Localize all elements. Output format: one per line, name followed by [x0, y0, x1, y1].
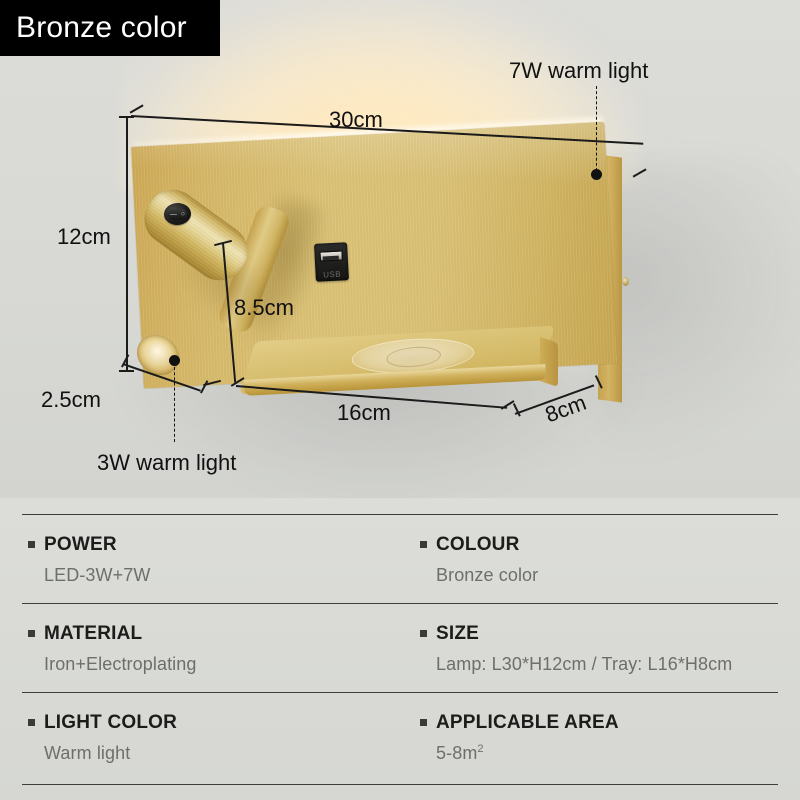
spec-cell-power: POWER LED-3W+7W: [0, 534, 400, 586]
dimension-tick-12cm-bottom: [119, 370, 134, 372]
callout-leader-7w: [596, 86, 597, 171]
divider-bottom: [22, 784, 778, 785]
spec-key: COLOUR: [420, 534, 800, 556]
divider-2: [22, 692, 778, 693]
dimension-tick-12cm-top: [119, 116, 134, 118]
tray-right-face: [540, 337, 558, 387]
bullet-icon: [28, 630, 35, 637]
spec-cell-colour: COLOUR Bronze color: [400, 534, 800, 586]
spec-value: 5-8m2: [436, 743, 800, 764]
spec-key-label: LIGHT COLOR: [44, 712, 177, 734]
spec-row: LIGHT COLOR Warm light APPLICABLE AREA 5…: [0, 712, 800, 764]
spec-key-label: POWER: [44, 534, 117, 556]
spec-row: POWER LED-3W+7W COLOUR Bronze color: [0, 534, 800, 586]
spec-key-label: COLOUR: [436, 534, 520, 556]
dimension-8.5cm: 8.5cm: [234, 297, 294, 319]
dimension-12cm: 12cm: [57, 226, 111, 248]
bullet-icon: [28, 541, 35, 548]
spec-key: LIGHT COLOR: [28, 712, 400, 734]
dimension-2.5cm: 2.5cm: [41, 389, 101, 411]
spec-key: MATERIAL: [28, 623, 400, 645]
spec-key: APPLICABLE AREA: [420, 712, 800, 734]
spec-value: Lamp: L30*H12cm / Tray: L16*H8cm: [436, 654, 800, 675]
spec-key-label: MATERIAL: [44, 623, 142, 645]
color-badge-label: Bronze color: [16, 11, 187, 45]
spec-key-label: SIZE: [436, 623, 479, 645]
callout-leader-3w: [174, 362, 175, 442]
spec-value: Warm light: [44, 743, 400, 764]
spec-value: LED-3W+7W: [44, 565, 400, 586]
bullet-icon: [28, 719, 35, 726]
color-badge: Bronze color: [0, 0, 220, 56]
dimension-16cm: 16cm: [337, 402, 391, 424]
spec-value-main: 5-8m: [436, 743, 477, 763]
switch-on-mark: ○: [181, 211, 186, 218]
product-spec-image: — ○ USB 30cm 12cm 8.5cm 2.5cm: [0, 0, 800, 800]
dimension-30cm: 30cm: [329, 109, 383, 131]
mounting-screw-icon: [622, 277, 629, 286]
usb-label: USB: [315, 269, 348, 280]
spec-value: Iron+Electroplating: [44, 654, 400, 675]
switch-off-mark: —: [170, 211, 177, 218]
spec-table: POWER LED-3W+7W COLOUR Bronze color MATE…: [0, 498, 800, 800]
spec-value-superscript: 2: [477, 743, 483, 755]
power-switch-rocker[interactable]: — ○: [168, 209, 188, 221]
callout-7w-warm-light: 7W warm light: [509, 60, 648, 82]
spec-cell-size: SIZE Lamp: L30*H12cm / Tray: L16*H8cm: [400, 623, 800, 675]
spec-value: Bronze color: [436, 565, 800, 586]
usb-port[interactable]: USB: [314, 242, 349, 282]
divider-1: [22, 603, 778, 604]
dimension-line-12cm: [126, 116, 128, 371]
spec-row: MATERIAL Iron+Electroplating SIZE Lamp: …: [0, 623, 800, 675]
spec-cell-light-color: LIGHT COLOR Warm light: [0, 712, 400, 764]
spec-cell-applicable-area: APPLICABLE AREA 5-8m2: [400, 712, 800, 764]
callout-point-3w: [169, 355, 180, 366]
bullet-icon: [420, 541, 427, 548]
spec-key: SIZE: [420, 623, 800, 645]
bullet-icon: [420, 630, 427, 637]
spec-cell-material: MATERIAL Iron+Electroplating: [0, 623, 400, 675]
callout-3w-warm-light: 3W warm light: [97, 452, 236, 474]
spec-key-label: APPLICABLE AREA: [436, 712, 619, 734]
bullet-icon: [420, 719, 427, 726]
spec-key: POWER: [28, 534, 400, 556]
usb-slot-icon: [319, 250, 342, 261]
product-photo: — ○ USB 30cm 12cm 8.5cm 2.5cm: [0, 0, 800, 498]
callout-point-7w: [591, 169, 602, 180]
divider-top: [22, 514, 778, 515]
